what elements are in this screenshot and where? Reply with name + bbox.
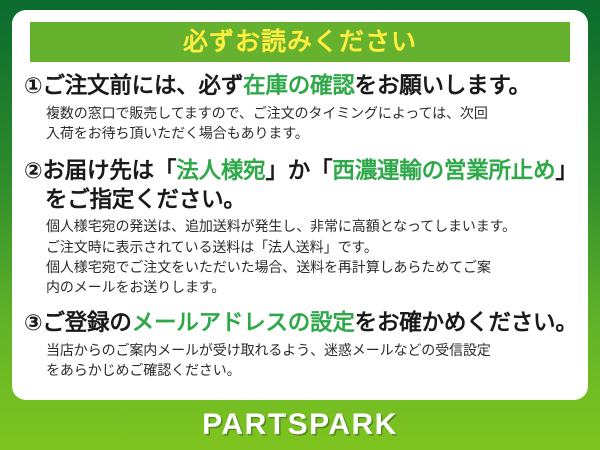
- notice-item-2: ②お届け先は「法人様宛」か「西濃運輸の営業所止め」 をご指定ください。 個人様宅…: [24, 157, 578, 297]
- header-title: 必ずお読みください: [183, 30, 417, 55]
- notice-item-1-body-line-2: 入荷をお待ち頂いただく場合もあります。: [46, 123, 578, 143]
- notice-item-2-heading-part-1: お届け先は: [42, 158, 154, 183]
- notice-item-2-heading-highlight-2: 西濃運輸の営業所止め: [332, 158, 555, 183]
- notice-item-2-heading: ②お届け先は「法人様宛」か「西濃運輸の営業所止め」: [24, 157, 578, 186]
- notice-item-1: ①ご注文前には、必ず在庫の確認をお願いします。 複数の窓口で販売してますので、ご…: [24, 72, 578, 143]
- notice-item-2-body-line-2: ご注文時に表示されている送料は「法人送料」です。: [46, 237, 578, 257]
- notice-item-2-bracket-open-2: 「: [310, 158, 332, 183]
- notice-item-3-body: 当店からのご案内メールが受け取れるよう、迷惑メールなどの受信設定 をあらかじめご…: [46, 340, 578, 381]
- notice-item-3-heading-highlight: メールアドレスの設定: [132, 310, 355, 335]
- notice-item-3-body-line-2: をあらかじめご確認ください。: [46, 360, 578, 380]
- notice-item-3-heading-part-3: をお確かめください。: [355, 310, 578, 335]
- notice-item-2-heading-line-2: をご指定ください。: [45, 186, 578, 215]
- notice-item-2-body: 個人様宅宛の発送は、追加送料が発生し、非常に高額となってしまいます。 ご注文時に…: [46, 216, 578, 297]
- notice-item-3-body-line-1: 当店からのご案内メールが受け取れるよう、迷惑メールなどの受信設定: [46, 340, 578, 360]
- notice-item-2-heading-highlight-1: 法人様宛: [176, 158, 265, 183]
- notice-item-1-body: 複数の窓口で販売してますので、ご注文のタイミングによっては、次回 入荷をお待ち頂…: [46, 103, 578, 144]
- notice-banner: 必ずお読みください ①ご注文前には、必ず在庫の確認をお願いします。 複数の窓口で…: [0, 0, 600, 450]
- notice-item-1-heading-highlight: 在庫の確認: [243, 73, 355, 98]
- notice-item-2-bracket-close-2: 」: [555, 158, 577, 183]
- notice-item-1-heading-part-3: をお願いします。: [355, 73, 531, 98]
- notice-item-2-body-line-4: 内のメールをお送りします。: [46, 277, 578, 297]
- notice-item-2-bracket-close-1: 」: [265, 158, 287, 183]
- notice-item-1-heading-part-1: ご注文前には、必ず: [42, 73, 243, 98]
- notice-item-2-number: ②: [24, 158, 42, 183]
- notice-card: 必ずお読みください ①ご注文前には、必ず在庫の確認をお願いします。 複数の窓口で…: [12, 10, 588, 400]
- notice-item-2-bracket-open-1: 「: [154, 158, 176, 183]
- header-bar: 必ずお読みください: [30, 22, 570, 62]
- notice-item-3-heading: ③ご登録のメールアドレスの設定をお確かめください。: [24, 309, 578, 338]
- notice-item-1-number: ①: [24, 73, 42, 98]
- notice-item-2-body-line-1: 個人様宅宛の発送は、追加送料が発生し、非常に高額となってしまいます。: [46, 216, 578, 236]
- notice-item-3-heading-part-1: ご登録の: [42, 310, 131, 335]
- notice-item-3: ③ご登録のメールアドレスの設定をお確かめください。 当店からのご案内メールが受け…: [24, 309, 578, 380]
- notice-item-2-body-line-3: 個人様宅宛でご注文をいただいた場合、送料を再計算しあらためてご案: [46, 257, 578, 277]
- brand-logo-text: PARTSPARK: [202, 408, 398, 442]
- brand-logo-area: PARTSPARK: [0, 400, 600, 450]
- notice-item-1-heading: ①ご注文前には、必ず在庫の確認をお願いします。: [24, 72, 578, 101]
- notice-sections: ①ご注文前には、必ず在庫の確認をお願いします。 複数の窓口で販売してますので、ご…: [12, 72, 588, 381]
- notice-item-3-number: ③: [24, 310, 42, 335]
- notice-item-2-heading-conjunction: か: [288, 158, 310, 183]
- notice-item-1-body-line-1: 複数の窓口で販売してますので、ご注文のタイミングによっては、次回: [46, 103, 578, 123]
